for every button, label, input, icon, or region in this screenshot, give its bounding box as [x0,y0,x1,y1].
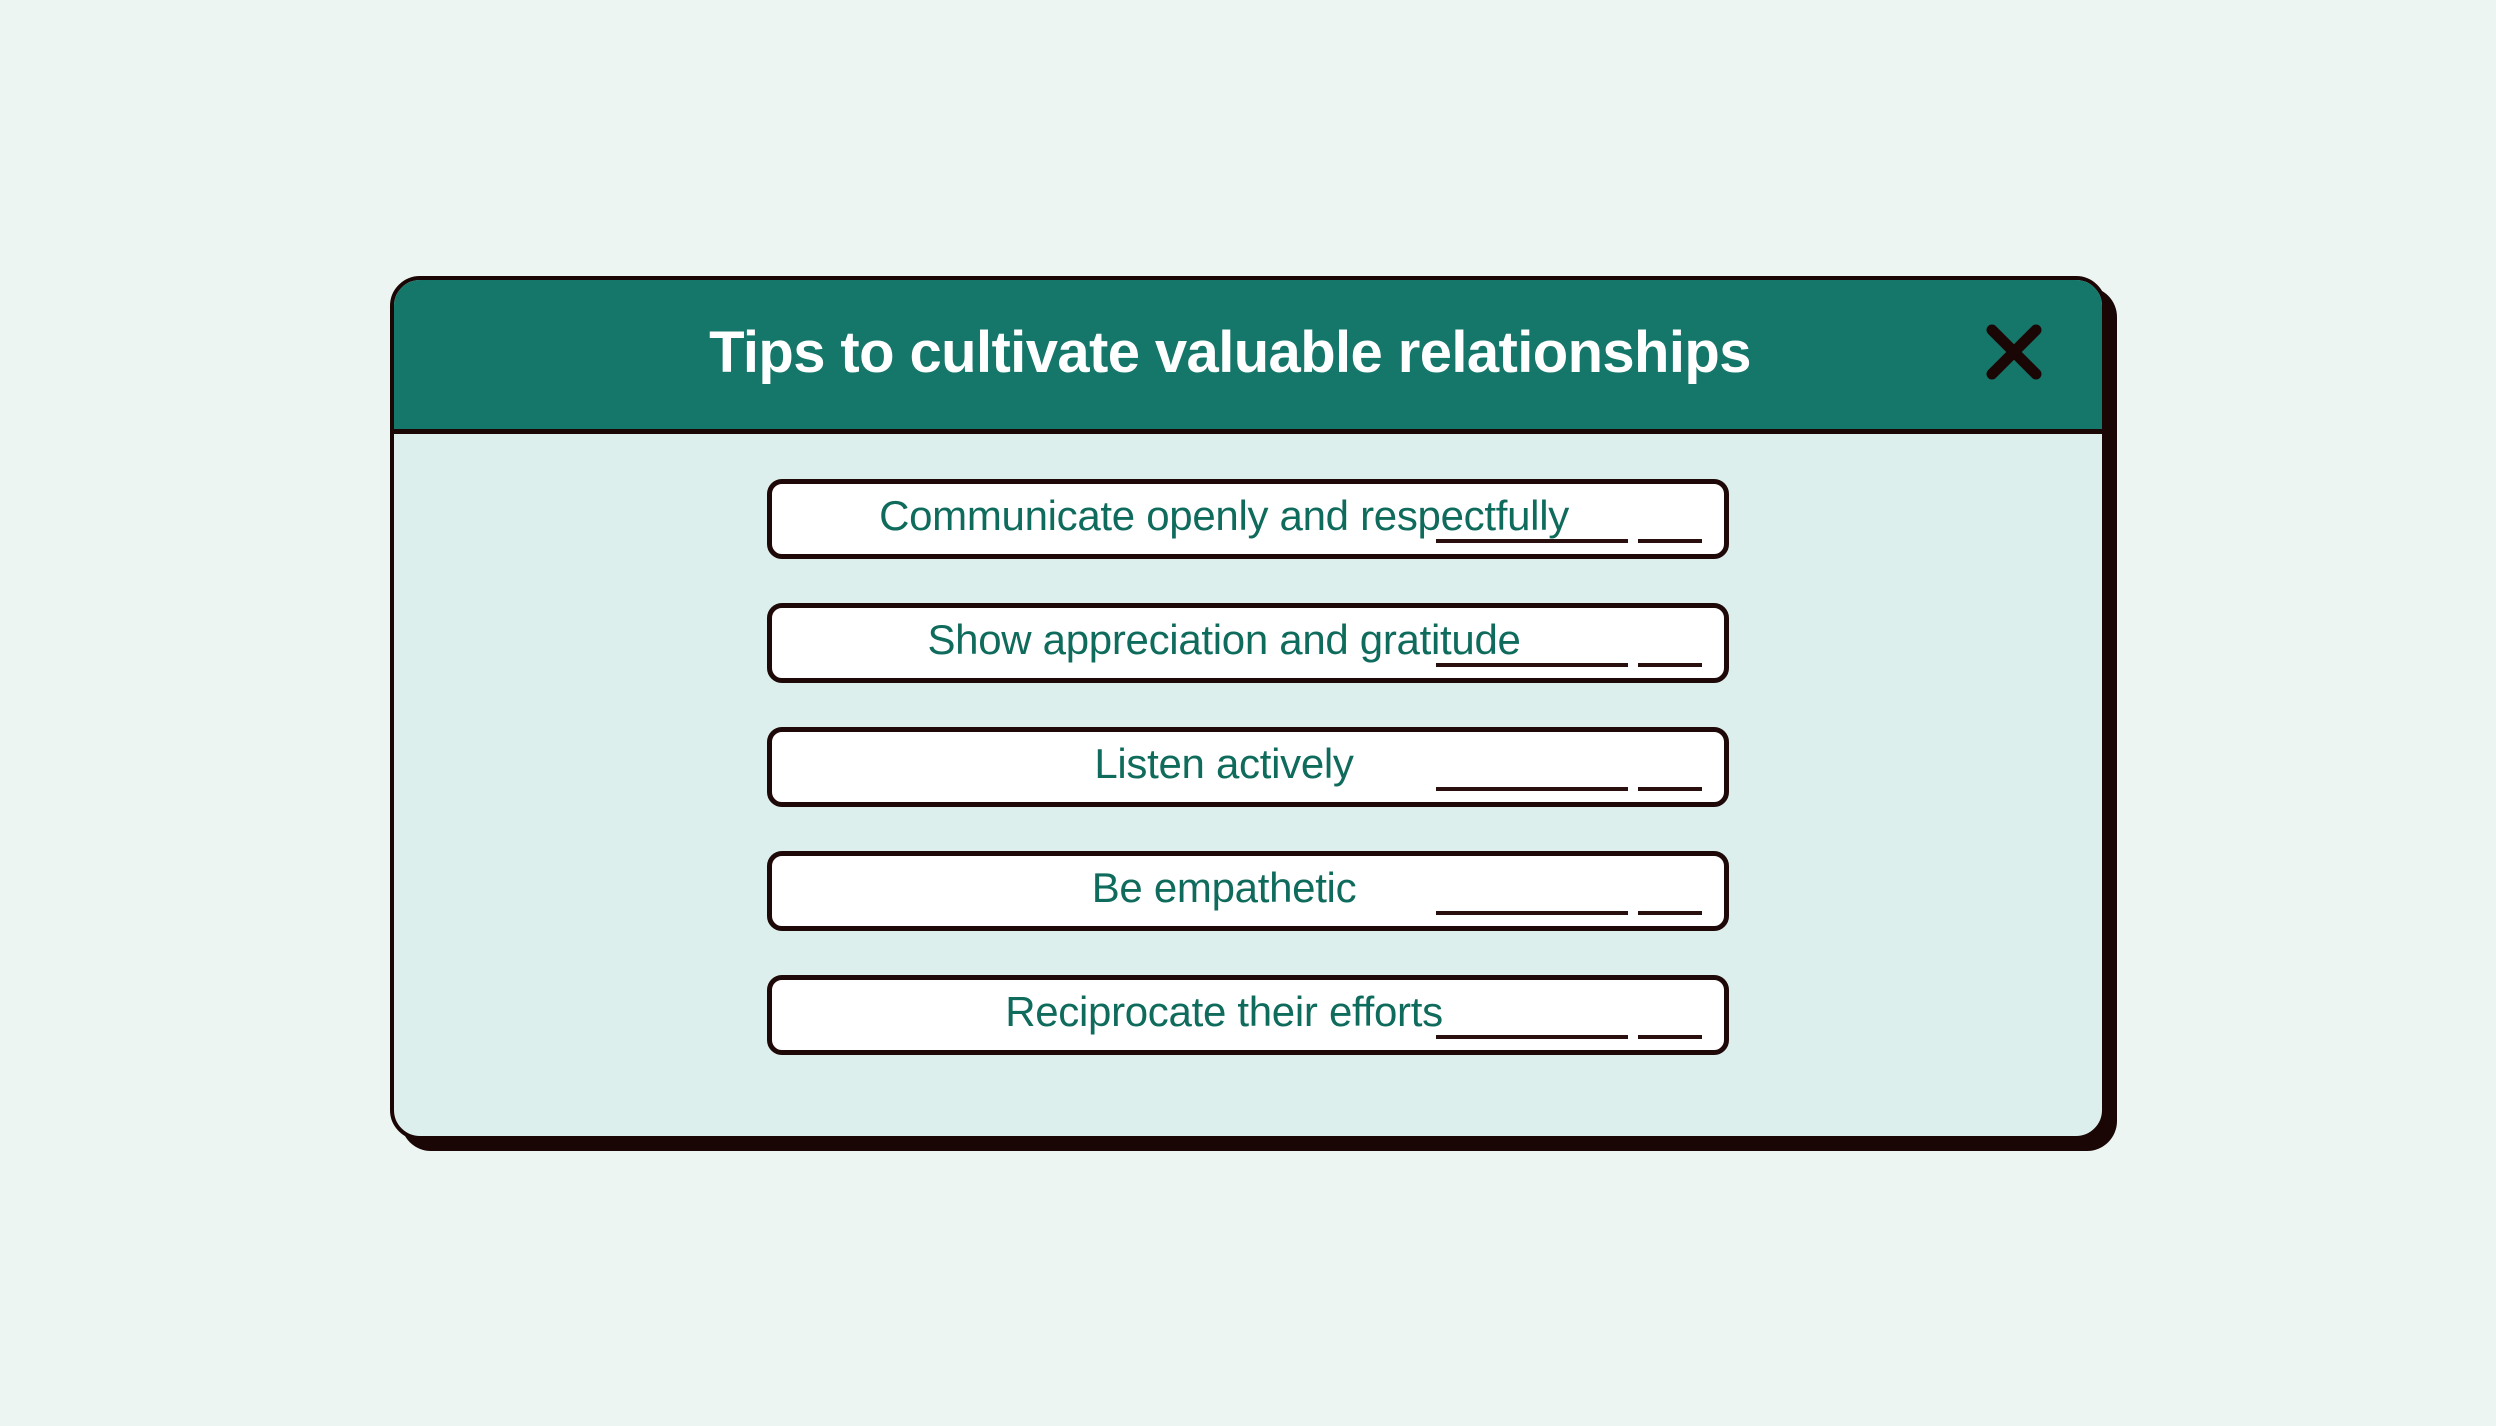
list-item-label: Reciprocate their efforts [1005,991,1443,1033]
list-item[interactable]: Reciprocate their efforts [767,975,1729,1055]
close-button[interactable] [1978,316,2050,388]
tips-dialog: Tips to cultivate valuable relationships… [390,276,2106,1140]
blank-line [1436,539,1702,543]
close-icon [1982,320,2046,384]
dialog-panel: Tips to cultivate valuable relationships… [390,276,2106,1140]
dialog-header: Tips to cultivate valuable relationships [394,280,2102,434]
blank-line [1436,911,1702,915]
dialog-title: Tips to cultivate valuable relationships [394,280,2102,424]
list-item[interactable]: Listen actively [767,727,1729,807]
list-item-label: Listen actively [1094,743,1353,785]
dialog-body: Communicate openly and respectfully Show… [394,434,2102,1136]
list-item[interactable]: Show appreciation and gratitude [767,603,1729,683]
list-item-label: Show appreciation and gratitude [927,619,1520,661]
tips-list: Communicate openly and respectfully Show… [767,479,1729,1055]
list-item[interactable]: Communicate openly and respectfully [767,479,1729,559]
blank-line [1436,663,1702,667]
blank-line [1436,787,1702,791]
list-item-label: Communicate openly and respectfully [879,495,1569,537]
list-item-label: Be empathetic [1092,867,1357,909]
blank-line [1436,1035,1702,1039]
list-item[interactable]: Be empathetic [767,851,1729,931]
